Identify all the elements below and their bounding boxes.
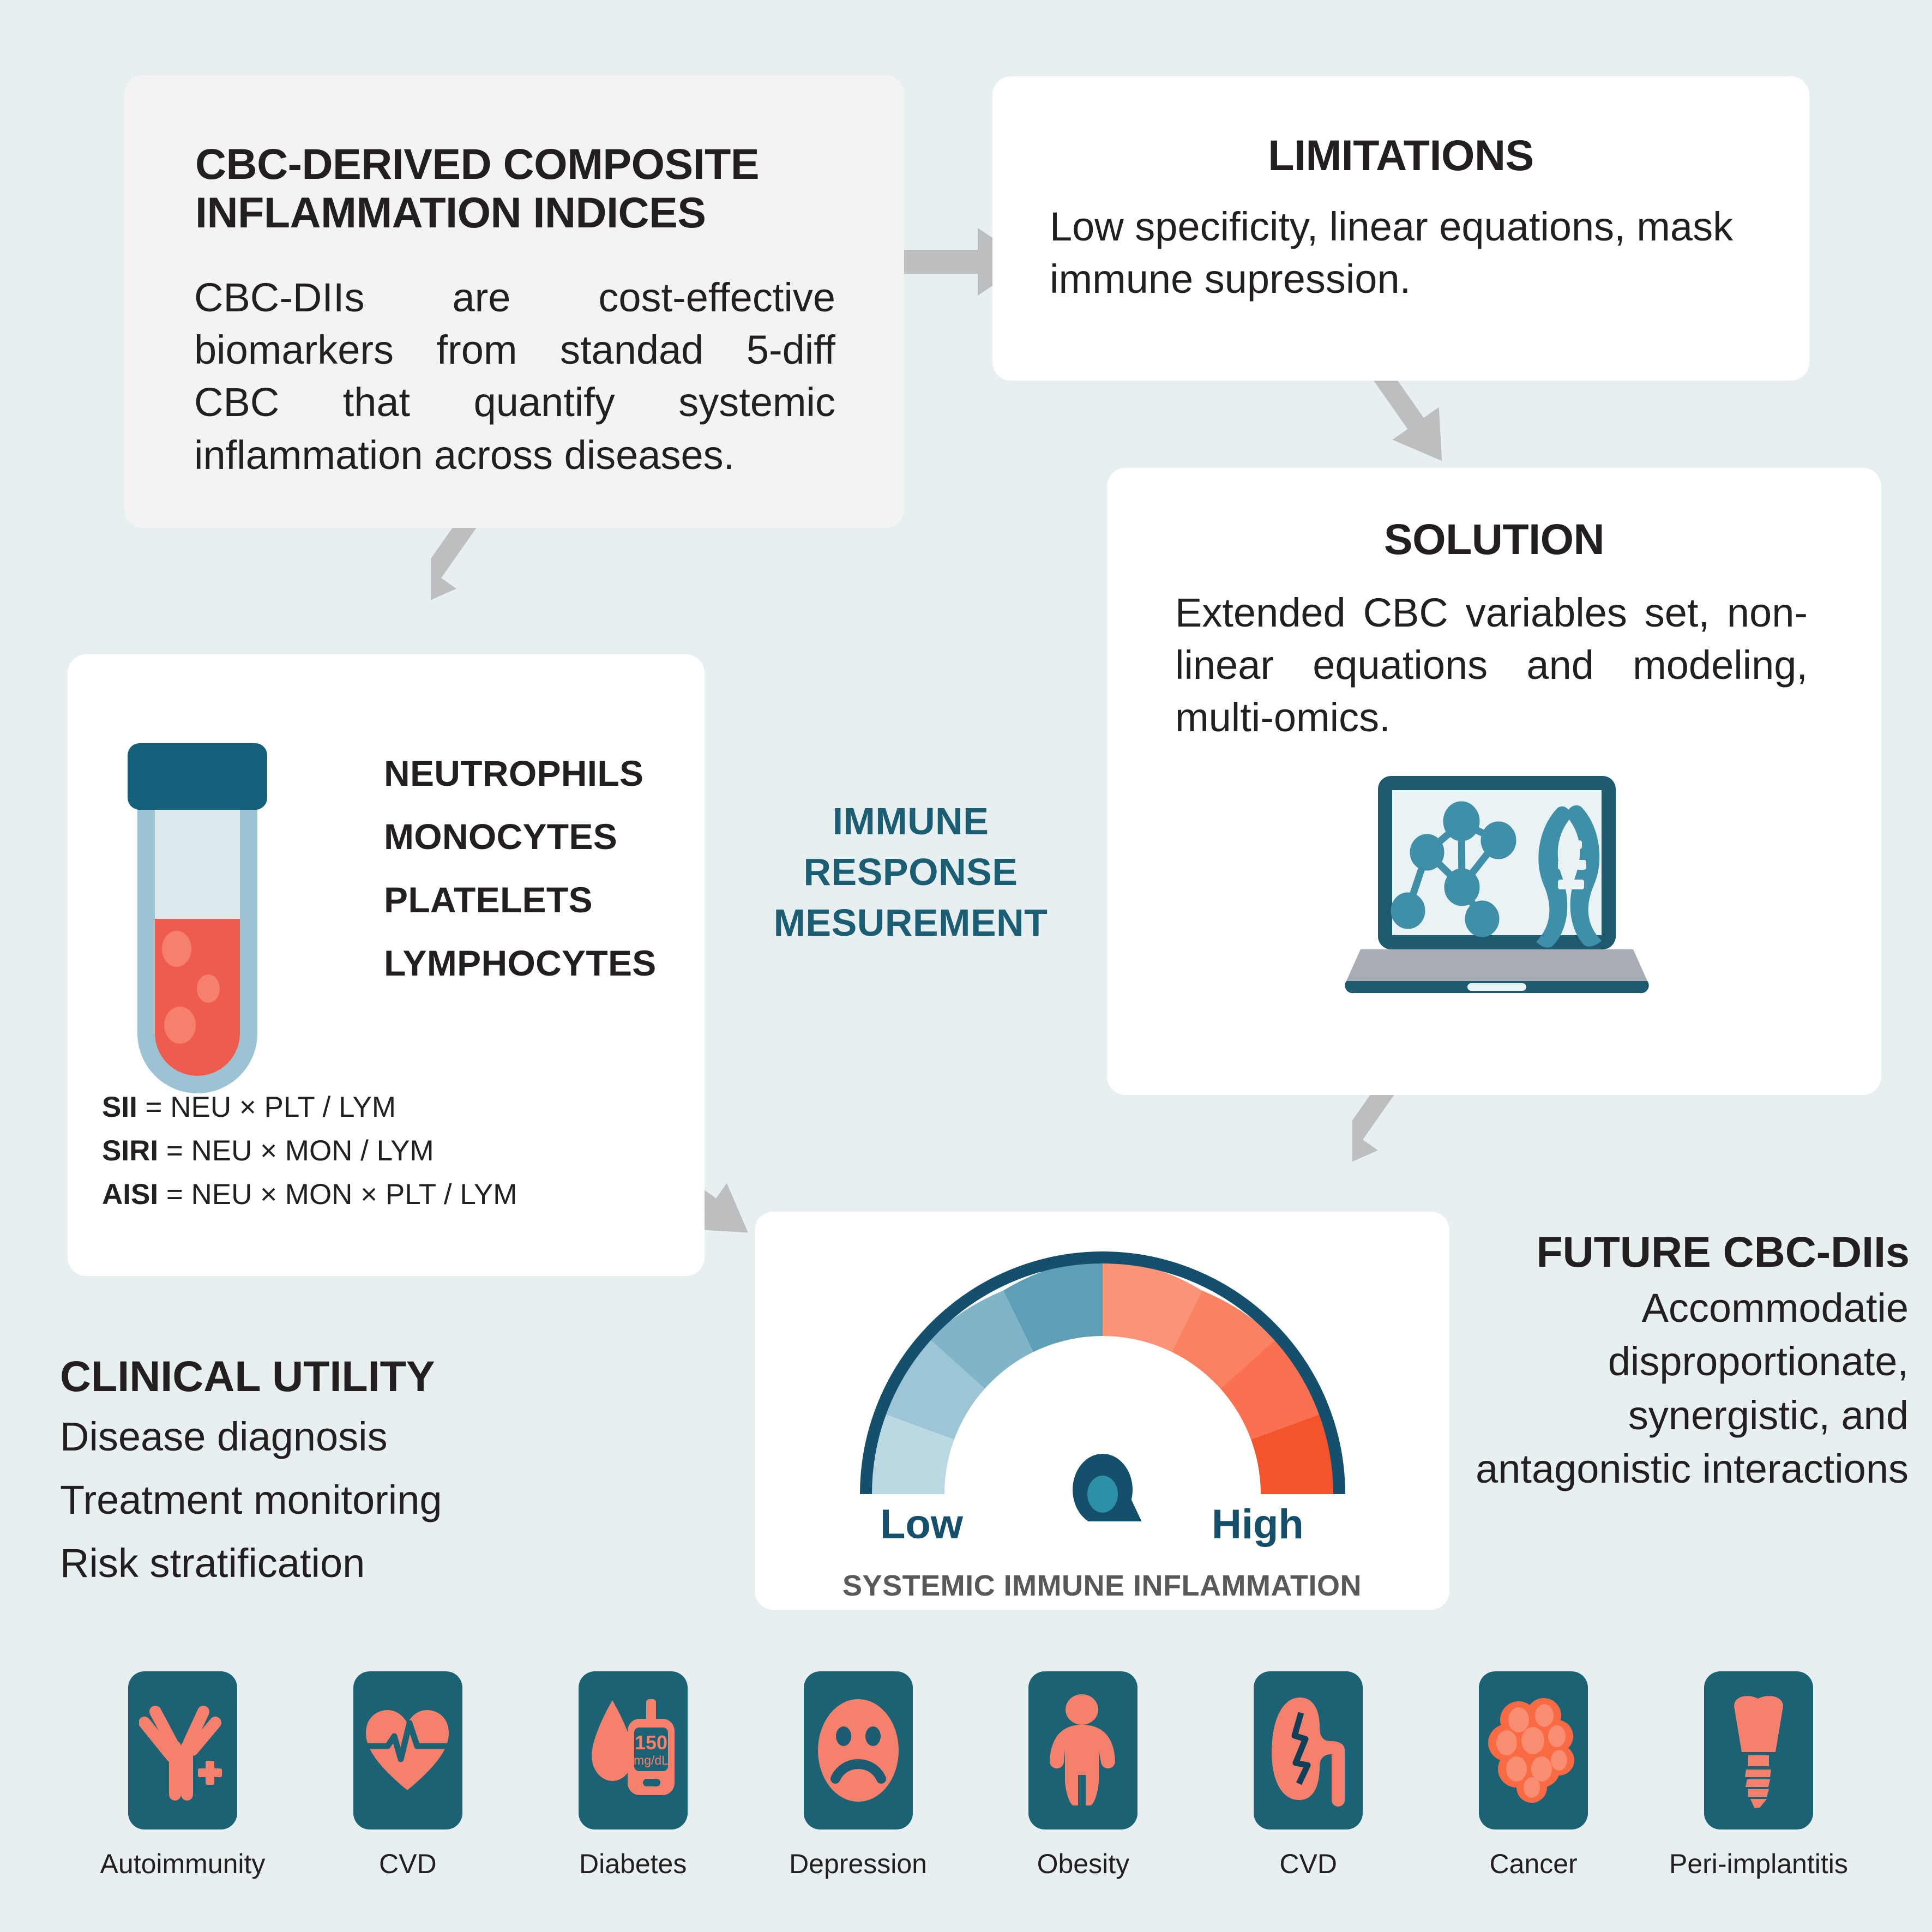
disease-item-kidney: CVD bbox=[1224, 1671, 1393, 1880]
disease-item-cvd-heart: CVD bbox=[323, 1671, 492, 1880]
clinical-utility-item: Disease diagnosis bbox=[60, 1417, 442, 1457]
gauge-caption: SYSTEMIC IMMUNE INFLAMMATION bbox=[755, 1569, 1449, 1603]
glucometer-icon: 150 mg/dL bbox=[579, 1671, 688, 1829]
immune-label-line-3: MESUREMENT bbox=[725, 898, 1096, 948]
dental-implant-icon bbox=[1704, 1671, 1813, 1829]
formula-name: SIRI bbox=[102, 1135, 158, 1167]
disease-label: Depression bbox=[789, 1848, 927, 1880]
formula-expression: = NEU × MON × PLT / LYM bbox=[166, 1178, 517, 1211]
tumor-cells-icon bbox=[1479, 1671, 1588, 1829]
disease-label: CVD bbox=[379, 1848, 437, 1880]
immune-label-line-1: IMMUNE bbox=[725, 796, 1096, 847]
glucometer-reading: 150 bbox=[635, 1731, 667, 1754]
intro-body: CBC-DIIs are cost-effective biomarkers f… bbox=[194, 272, 835, 482]
formula-row: SIRI = NEU × MON / LYM bbox=[102, 1134, 517, 1167]
cell-type-item: LYMPHOCYTES bbox=[384, 942, 689, 984]
sad-face-icon bbox=[804, 1671, 913, 1829]
disease-icon-row: Autoimmunity CVD 150 mg/dL bbox=[98, 1671, 1843, 1880]
laptop-network-dna-icon bbox=[1344, 771, 1650, 1000]
card-limitations: LIMITATIONS Low specificity, linear equa… bbox=[992, 76, 1809, 381]
clinical-utility-list: Disease diagnosis Treatment monitoring R… bbox=[60, 1417, 442, 1606]
card-solution: SOLUTION Extended CBC variables set, non… bbox=[1107, 468, 1881, 1095]
cell-type-item: PLATELETS bbox=[384, 879, 689, 920]
solution-body: Extended CBC variables set, non-linear e… bbox=[1175, 587, 1808, 744]
formula-list: SII = NEU × PLT / LYM SIRI = NEU × MON /… bbox=[102, 1091, 517, 1221]
disease-item-diabetes: 150 mg/dL Diabetes bbox=[549, 1671, 718, 1880]
disease-label: Diabetes bbox=[579, 1848, 687, 1880]
immune-response-measurement-label: IMMUNE RESPONSE MESUREMENT bbox=[725, 796, 1096, 948]
disease-item-obesity: Obesity bbox=[998, 1671, 1167, 1880]
disease-item-autoimmunity: Autoimmunity bbox=[98, 1671, 267, 1880]
gauge-dial bbox=[846, 1238, 1359, 1524]
formula-row: AISI = NEU × MON × PLT / LYM bbox=[102, 1178, 517, 1211]
immune-label-line-2: RESPONSE bbox=[725, 847, 1096, 898]
glucometer-unit: mg/dL bbox=[634, 1753, 669, 1767]
formula-name: AISI bbox=[102, 1178, 158, 1211]
limitations-body: Low specificity, linear equations, mask … bbox=[1050, 201, 1770, 305]
disease-label: Autoimmunity bbox=[100, 1848, 266, 1880]
cell-type-list: NEUTROPHILS MONOCYTES PLATELETS LYMPHOCY… bbox=[384, 753, 689, 1006]
disease-label: Cancer bbox=[1489, 1848, 1577, 1880]
formula-row: SII = NEU × PLT / LYM bbox=[102, 1091, 517, 1124]
clinical-utility-title: CLINICAL UTILITY bbox=[60, 1351, 435, 1401]
blood-test-tube-icon bbox=[111, 739, 286, 1134]
cell-type-item: MONOCYTES bbox=[384, 816, 689, 857]
disease-label: Peri-implantitis bbox=[1669, 1848, 1848, 1880]
card-cbc-derived-indices: CBC-DERIVED COMPOSITE INFLAMMATION INDIC… bbox=[124, 75, 904, 528]
gauge-high-label: High bbox=[1212, 1501, 1304, 1548]
formula-name: SII bbox=[102, 1091, 137, 1123]
disease-label: Obesity bbox=[1037, 1848, 1130, 1880]
kidney-icon bbox=[1254, 1671, 1363, 1829]
obese-person-icon bbox=[1028, 1671, 1137, 1829]
gauge-low-label: Low bbox=[880, 1501, 963, 1548]
formula-expression: = NEU × MON / LYM bbox=[166, 1135, 434, 1167]
future-title: FUTURE CBC-DIIs bbox=[1479, 1227, 1910, 1277]
solution-title: SOLUTION bbox=[1107, 515, 1881, 563]
antibody-icon bbox=[128, 1671, 237, 1829]
card-blood-markers: NEUTROPHILS MONOCYTES PLATELETS LYMPHOCY… bbox=[68, 654, 705, 1276]
future-body: Accommodatie disproportionate, synergist… bbox=[1464, 1281, 1909, 1496]
intro-title: CBC-DERIVED COMPOSITE INFLAMMATION INDIC… bbox=[195, 140, 866, 237]
disease-item-depression: Depression bbox=[774, 1671, 943, 1880]
disease-item-cancer: Cancer bbox=[1449, 1671, 1618, 1880]
clinical-utility-item: Risk stratification bbox=[60, 1543, 442, 1584]
disease-item-peri-implantitis: Peri-implantitis bbox=[1674, 1671, 1843, 1880]
heart-ecg-icon bbox=[353, 1671, 462, 1829]
formula-expression: = NEU × PLT / LYM bbox=[146, 1091, 396, 1123]
infographic-canvas: CBC-DERIVED COMPOSITE INFLAMMATION INDIC… bbox=[0, 0, 1932, 1932]
disease-label: CVD bbox=[1279, 1848, 1337, 1880]
clinical-utility-item: Treatment monitoring bbox=[60, 1480, 442, 1520]
limitations-title: LIMITATIONS bbox=[992, 131, 1809, 179]
cell-type-item: NEUTROPHILS bbox=[384, 753, 689, 794]
card-inflammation-gauge: Low High SYSTEMIC IMMUNE INFLAMMATION bbox=[755, 1212, 1449, 1610]
